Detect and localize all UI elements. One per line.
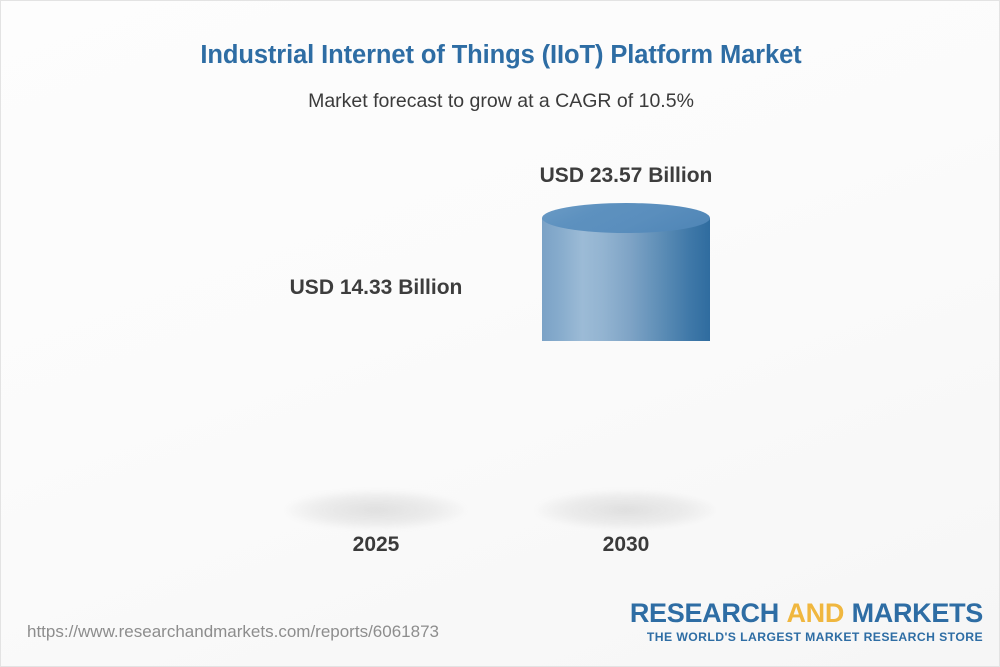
cylinder-top-cap-2030: [542, 203, 710, 233]
bar-group-2030: USD 23.57 Billion 2030: [476, 1, 776, 601]
chart-canvas: Industrial Internet of Things (IIoT) Pla…: [0, 0, 1000, 667]
source-url[interactable]: https://www.researchandmarkets.com/repor…: [27, 622, 439, 642]
logo-space-2: [844, 598, 852, 628]
logo-wordmark: RESEARCH AND MARKETS: [630, 599, 983, 627]
cylinder-top-cap-2025: [292, 316, 460, 346]
logo-word-research: RESEARCH: [630, 598, 779, 628]
research-and-markets-logo[interactable]: RESEARCH AND MARKETS THE WORLD'S LARGEST…: [630, 599, 983, 644]
logo-word-markets: MARKETS: [852, 598, 983, 628]
logo-word-and: AND: [786, 598, 844, 628]
cylinder-side-2025: [292, 331, 460, 508]
bar-category-label-2030: 2030: [476, 533, 776, 557]
cylinder-segment-blue-2030: [542, 218, 710, 341]
logo-tagline: THE WORLD'S LARGEST MARKET RESEARCH STOR…: [630, 630, 983, 644]
cylinder-segment-yellow-2030: [542, 341, 710, 508]
chart-plot-area: USD 14.33 Billion 2025 USD 23.57 Billion: [1, 1, 1000, 601]
cylinder-2030: [476, 1, 776, 601]
